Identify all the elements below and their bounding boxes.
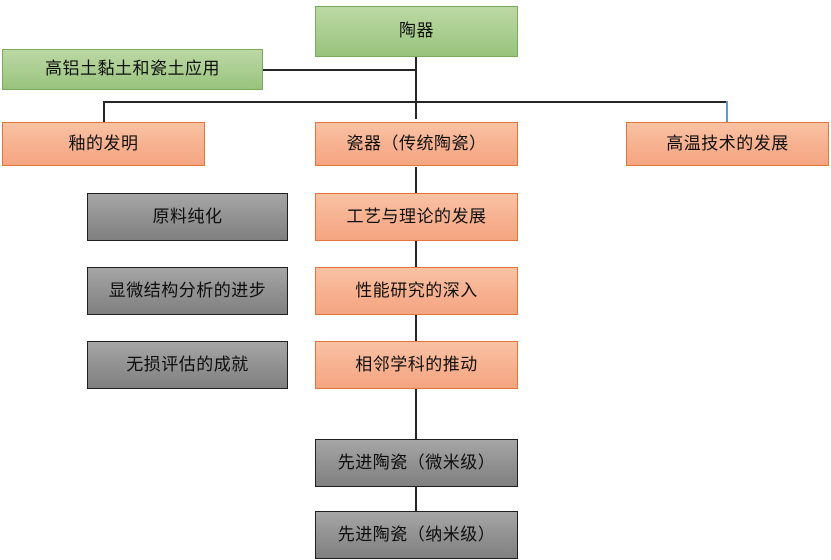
node-label: 瓷器（传统陶瓷） [347, 134, 487, 154]
node-advanced-ceramics-nano[interactable]: 先进陶瓷（纳米级） [315, 511, 518, 559]
node-raw-material-purification[interactable]: 原料纯化 [87, 193, 288, 241]
node-label: 工艺与理论的发展 [347, 207, 487, 227]
node-performance-research[interactable]: 性能研究的深入 [315, 267, 518, 315]
node-nondestructive-evaluation[interactable]: 无损评估的成就 [87, 341, 288, 389]
node-clay-application[interactable]: 高铝土黏土和瓷土应用 [2, 49, 263, 90]
node-label: 先进陶瓷（微米级） [338, 453, 496, 473]
connector-adjacent-to-micron [415, 389, 417, 439]
connector-craft-to-performance [415, 241, 417, 267]
node-root-pottery[interactable]: 陶器 [315, 6, 518, 57]
node-label: 高铝土黏土和瓷土应用 [45, 59, 220, 79]
node-adjacent-disciplines[interactable]: 相邻学科的推动 [315, 341, 518, 389]
node-glaze-invention[interactable]: 釉的发明 [2, 122, 205, 166]
connector-main-bus [103, 101, 727, 103]
node-porcelain[interactable]: 瓷器（传统陶瓷） [315, 122, 518, 166]
connector-micron-to-nano [415, 487, 417, 511]
node-label: 高温技术的发展 [666, 134, 789, 154]
node-label: 陶器 [399, 21, 434, 41]
connector-bus-to-high-temp [726, 101, 728, 122]
node-craft-theory[interactable]: 工艺与理论的发展 [315, 193, 518, 241]
node-microstructure-analysis[interactable]: 显微结构分析的进步 [87, 267, 288, 315]
connector-root-to-clay [262, 69, 417, 71]
connector-bus-to-glaze [103, 101, 105, 122]
node-label: 原料纯化 [153, 207, 223, 227]
flowchart-canvas: 陶器 高铝土黏土和瓷土应用 釉的发明 瓷器（传统陶瓷） 高温技术的发展 原料纯化… [0, 0, 831, 560]
node-label: 相邻学科的推动 [355, 355, 478, 375]
node-label: 先进陶瓷（纳米级） [338, 525, 496, 545]
node-label: 无损评估的成就 [126, 355, 249, 375]
node-high-temp-tech[interactable]: 高温技术的发展 [626, 122, 829, 166]
node-label: 性能研究的深入 [355, 281, 478, 301]
node-label: 釉的发明 [69, 134, 139, 154]
connector-root-trunk [415, 57, 417, 119]
connector-performance-to-adjacent [415, 315, 417, 341]
connector-porcelain-to-craft [415, 167, 417, 193]
node-advanced-ceramics-micron[interactable]: 先进陶瓷（微米级） [315, 439, 518, 487]
node-label: 显微结构分析的进步 [109, 281, 267, 301]
